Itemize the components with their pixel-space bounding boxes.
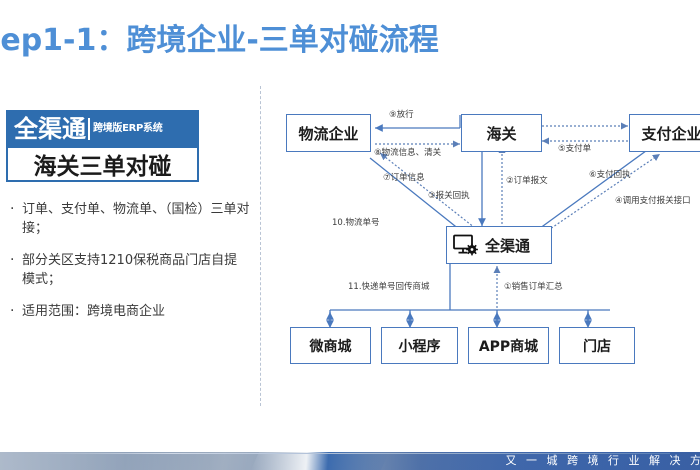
node-label: APP商城 [479, 336, 538, 356]
edge-label-10: 10.物流单号 [332, 218, 380, 228]
node-shop-store[interactable]: 门店 [559, 327, 635, 364]
edge-label-7: ⑦订单信息 [383, 173, 425, 183]
node-shop-app[interactable]: APP商城 [468, 327, 549, 364]
node-label: 物流企业 [298, 123, 358, 144]
section-divider [260, 86, 261, 406]
edge-label-4: ④调用支付报关接口 [615, 196, 691, 206]
banner-tagline: 又 一 城 跨 境 行 业 解 决 方 [506, 452, 700, 468]
edge-label-6: ⑥支付回执 [589, 170, 631, 180]
monitor-gear-icon [453, 234, 479, 256]
list-item: · 订单、支付单、物流单、（国检）三单对接； [10, 200, 250, 238]
node-payment[interactable]: 支付企业 [629, 114, 700, 152]
node-logistics[interactable]: 物流企业 [286, 114, 371, 152]
node-label: 海关 [486, 123, 516, 144]
node-label: 小程序 [399, 336, 441, 356]
bullet-marker-icon: · [10, 251, 22, 270]
edge-label-3: ③报关回执 [428, 191, 470, 201]
bullet-marker-icon: · [10, 200, 22, 219]
slide-canvas: tep1-1：跨境企业-三单对碰流程 全渠通 跨境版ERP系统 海关三单对碰 ·… [0, 0, 700, 470]
node-customs[interactable]: 海关 [461, 114, 542, 152]
brand-badge: 全渠通 跨境版ERP系统 海关三单对碰 [6, 110, 199, 182]
edge-label-2: ②订单报文 [506, 176, 548, 186]
brand-divider-icon [88, 118, 90, 140]
node-label: 支付企业 [641, 123, 700, 144]
edge-label-1: ①销售订单汇总 [504, 282, 563, 292]
banner-sweep-shape [251, 452, 389, 470]
brand-headline: 海关三单对碰 [34, 147, 172, 181]
brand-badge-headline-box: 海关三单对碰 [6, 148, 199, 182]
edge-label-11: 11.快递单号回传商城 [348, 282, 430, 292]
bullet-text: 适用范围：跨境电商企业 [22, 302, 250, 321]
brand-name: 全渠通 [14, 116, 86, 142]
node-hub[interactable]: 全渠通 [446, 226, 552, 264]
node-shop-weishop[interactable]: 微商城 [290, 327, 371, 364]
bullet-text: 部分关区支持1210保税商品门店自提模式； [22, 251, 250, 289]
bullet-list: · 订单、支付单、物流单、（国检）三单对接； · 部分关区支持1210保税商品门… [0, 200, 250, 321]
list-item: · 部分关区支持1210保税商品门店自提模式； [10, 251, 250, 289]
brand-badge-top: 全渠通 跨境版ERP系统 [6, 110, 199, 148]
node-label: 全渠通 [485, 235, 530, 256]
list-item: · 适用范围：跨境电商企业 [10, 302, 250, 321]
bullet-text: 订单、支付单、物流单、（国检）三单对接； [22, 200, 250, 238]
edge-label-5: ⑤支付单 [558, 144, 591, 154]
node-label: 门店 [583, 336, 611, 356]
brand-subtitle: 跨境版ERP系统 [93, 123, 162, 135]
flow-diagram: 物流企业 海关 支付企业 全渠通 [270, 86, 700, 406]
node-shop-miniprogram[interactable]: 小程序 [381, 327, 458, 364]
edge-label-9: ⑨放行 [389, 110, 414, 120]
page-title: tep1-1：跨境企业-三单对碰流程 [0, 20, 439, 62]
node-label: 微商城 [310, 336, 352, 356]
sidebar: 全渠通 跨境版ERP系统 海关三单对碰 · 订单、支付单、物流单、（国检）三单对… [0, 110, 250, 334]
edge-label-8: ⑧物流信息、清关 [374, 148, 441, 158]
bullet-marker-icon: · [10, 302, 22, 321]
